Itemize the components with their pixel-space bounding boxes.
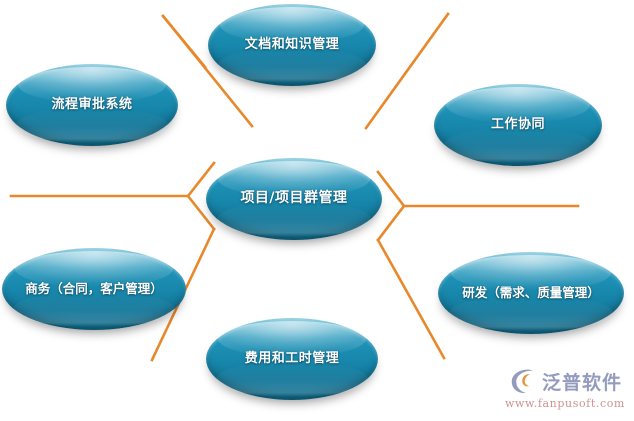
watermark-brand-name: 泛普软件 xyxy=(542,368,622,395)
connector-right-chevron-down xyxy=(378,206,404,240)
connector-lower-right-run xyxy=(378,240,444,358)
watermark-brand-row: 泛普软件 xyxy=(508,366,622,396)
node-label: 流程审批系统 xyxy=(45,97,138,113)
node-label: 研发（需求、质量管理） xyxy=(456,285,606,301)
node-label: 工作协同 xyxy=(485,117,551,133)
watermark-url: www.fanpusoft.com xyxy=(505,397,625,410)
watermark-logo: 泛普软件 www.fanpusoft.com xyxy=(500,360,630,416)
node-label: 费用和工时管理 xyxy=(239,351,346,367)
node-label: 项目/项目群管理 xyxy=(234,190,353,208)
node-document-knowledge-management[interactable]: 文档和知识管理 xyxy=(208,4,376,86)
diagram-canvas: 文档和知识管理 流程审批系统 工作协同 项目/项目群管理 商务（合同，客户管理）… xyxy=(0,0,634,421)
node-rnd-requirement-quality[interactable]: 研发（需求、质量管理） xyxy=(438,252,624,334)
node-business-contract-customer[interactable]: 商务（合同，客户管理） xyxy=(2,248,186,330)
node-cost-timesheet-management[interactable]: 费用和工时管理 xyxy=(206,318,378,400)
node-label: 文档和知识管理 xyxy=(239,37,346,53)
node-process-approval-system[interactable]: 流程审批系统 xyxy=(6,64,178,146)
fanpu-swoosh-icon xyxy=(508,366,538,396)
node-project-program-management[interactable]: 项目/项目群管理 xyxy=(206,158,382,240)
node-label: 商务（合同，客户管理） xyxy=(19,281,169,297)
connector-top-right-run xyxy=(366,14,448,128)
node-work-collaboration[interactable]: 工作协同 xyxy=(434,84,602,166)
